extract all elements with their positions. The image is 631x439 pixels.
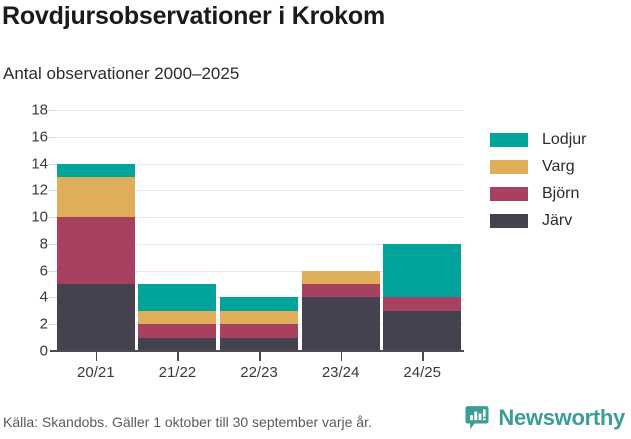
legend-color-swatch: [490, 133, 528, 147]
legend-item[interactable]: Varg: [490, 153, 586, 180]
bar-segment[interactable]: [302, 297, 380, 351]
chart-legend: LodjurVargBjörnJärv: [490, 126, 586, 234]
legend-color-swatch: [490, 187, 528, 201]
legend-label: Björn: [542, 185, 579, 203]
bar-segment[interactable]: [302, 271, 380, 284]
bar-segment[interactable]: [57, 164, 135, 177]
x-axis-tick-label: 23/24: [322, 364, 360, 381]
newsworthy-logo: Newsworthy: [464, 405, 625, 431]
bar-stack[interactable]: [138, 110, 216, 351]
y-axis-tick-label: 8: [4, 235, 48, 252]
bar-segment[interactable]: [138, 311, 216, 324]
legend-item[interactable]: Björn: [490, 180, 586, 207]
bar-segment[interactable]: [220, 311, 298, 324]
bar-segment[interactable]: [220, 324, 298, 337]
x-axis-tick: [259, 352, 261, 361]
brand-name: Newsworthy: [498, 405, 625, 431]
bar-segment[interactable]: [138, 324, 216, 337]
bar-segment[interactable]: [383, 297, 461, 310]
legend-color-swatch: [490, 214, 528, 228]
bar-segment[interactable]: [138, 338, 216, 351]
bar-segment[interactable]: [302, 284, 380, 297]
x-axis-tick: [96, 352, 98, 361]
chart-plot-bars: [55, 110, 463, 351]
bar-stack[interactable]: [302, 110, 380, 351]
chart-title: Rovdjursobservationer i Krokom: [2, 2, 385, 31]
y-axis-tick-label: 14: [4, 155, 48, 172]
bar-segment[interactable]: [57, 284, 135, 351]
bar-segment[interactable]: [220, 338, 298, 351]
bar-stack[interactable]: [383, 110, 461, 351]
y-axis-tick-label: 16: [4, 128, 48, 145]
bar-segment[interactable]: [138, 284, 216, 311]
bar-chart-speech-bubble-icon: [464, 405, 490, 431]
y-axis-tick-label: 0: [4, 343, 48, 360]
y-axis-tick-label: 4: [4, 289, 48, 306]
bar-segment[interactable]: [383, 244, 461, 298]
y-axis-tick-label: 12: [4, 182, 48, 199]
legend-item[interactable]: Lodjur: [490, 126, 586, 153]
x-axis-tick-label: 21/22: [159, 364, 197, 381]
legend-item[interactable]: Järv: [490, 207, 586, 234]
y-axis-tick-label: 18: [4, 102, 48, 119]
chart-container: Rovdjursobservationer i Krokom Antal obs…: [0, 0, 631, 439]
legend-label: Varg: [542, 158, 575, 176]
bar-segment[interactable]: [383, 311, 461, 351]
bar-segment[interactable]: [57, 177, 135, 217]
y-axis-tick-label: 10: [4, 209, 48, 226]
y-axis-tick-label: 2: [4, 316, 48, 333]
x-axis-tick: [422, 352, 424, 361]
bar-segment[interactable]: [220, 297, 298, 310]
legend-color-swatch: [490, 160, 528, 174]
x-axis-tick-label: 24/25: [403, 364, 441, 381]
x-axis-tick-label: 20/21: [77, 364, 115, 381]
legend-label: Järv: [542, 212, 572, 230]
bar-segment[interactable]: [57, 217, 135, 284]
chart-subtitle: Antal observationer 2000–2025: [3, 64, 239, 84]
bar-stack[interactable]: [220, 110, 298, 351]
x-axis-tick: [341, 352, 343, 361]
bar-stack[interactable]: [57, 110, 135, 351]
y-axis: 024681012141618: [0, 110, 48, 351]
legend-label: Lodjur: [542, 131, 586, 149]
y-axis-tick-label: 6: [4, 262, 48, 279]
x-axis-line: [50, 350, 464, 352]
x-axis-tick: [177, 352, 179, 361]
source-note: Källa: Skandobs. Gäller 1 oktober till 3…: [3, 414, 372, 430]
x-axis-tick-label: 22/23: [240, 364, 278, 381]
